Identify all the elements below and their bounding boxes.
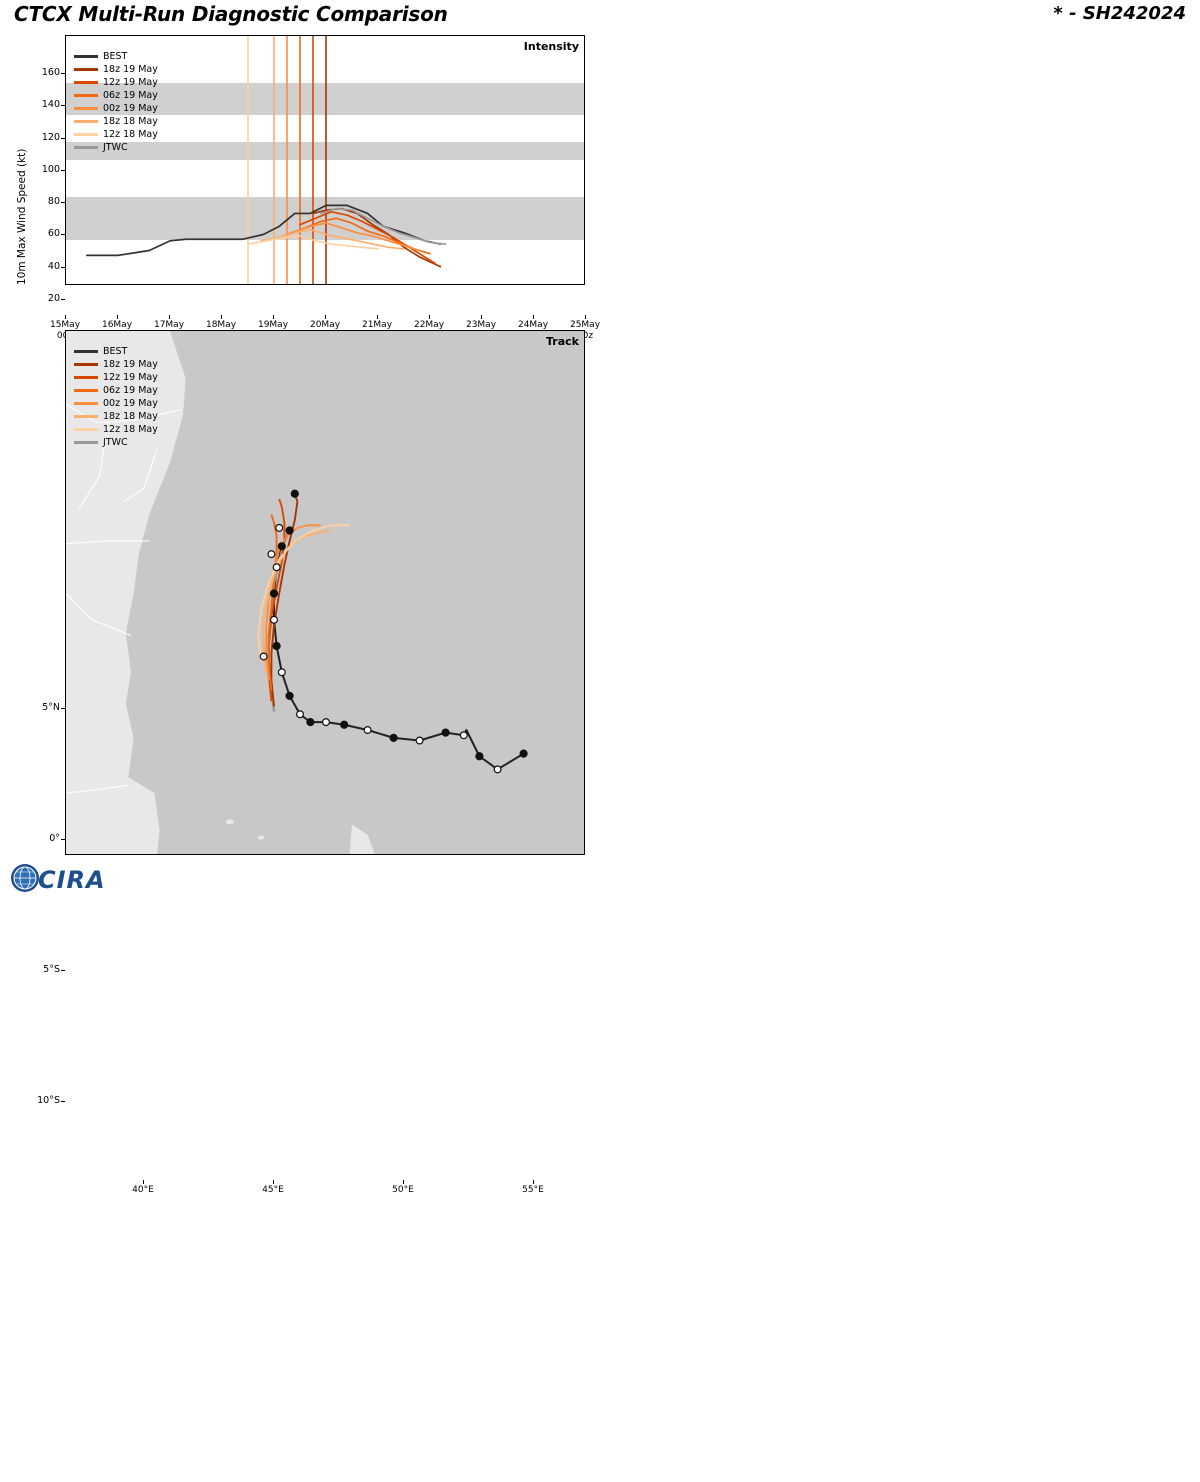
legend-swatch [74, 389, 98, 392]
legend-swatch [74, 146, 98, 149]
legend-label: 12z 18 May [103, 424, 158, 435]
legend-item: BEST [74, 345, 158, 358]
y-tick-label: 5°N [20, 702, 60, 713]
y-tick-mark [61, 970, 65, 971]
legend-item: 12z 19 May [74, 371, 158, 384]
panel-sst: Sea Surface Temp (°C) SST 18z 19 May12z … [600, 320, 1200, 595]
x-tick-mark [65, 315, 66, 319]
legend-label: 18z 18 May [103, 116, 158, 127]
legend-label: 00z 19 May [103, 103, 158, 114]
panel-intensity: 10m Max Wind Speed (kt) Intensity BEST18… [0, 30, 600, 320]
y-tick-label: 100 [25, 164, 60, 175]
y-tick-label: 10°S [20, 1095, 60, 1106]
legend-label: 18z 19 May [103, 64, 158, 75]
legend-label: 00z 19 May [103, 398, 158, 409]
legend-item: 12z 18 May [74, 423, 158, 436]
x-tick-mark [533, 315, 534, 319]
x-tick-mark [429, 315, 430, 319]
legend-label: 12z 19 May [103, 77, 158, 88]
y-tick-label: 160 [25, 67, 60, 78]
legend-swatch [74, 428, 98, 431]
legend-item: 18z 18 May [74, 410, 158, 423]
legend-swatch [74, 363, 98, 366]
legend-item: 06z 19 May [74, 384, 158, 397]
legend-item: JTWC [74, 436, 158, 449]
legend-item: JTWC [74, 141, 158, 154]
x-tick-mark [481, 315, 482, 319]
legend-label: BEST [103, 51, 127, 62]
y-tick-label: 80 [25, 196, 60, 207]
x-tick-label: 40°E [121, 1185, 165, 1196]
y-tick-label: 0° [20, 833, 60, 844]
legend-label: JTWC [103, 142, 128, 153]
page-title: CTCX Multi-Run Diagnostic Comparison [14, 2, 448, 26]
panel-shear: 200-850 hPa Shear (kt) Deep-Layer Shear … [600, 30, 1200, 315]
legend-swatch [74, 441, 98, 444]
legend-swatch [74, 120, 98, 123]
track-panel-label: Track [546, 335, 579, 348]
y-tick-mark [61, 73, 65, 74]
legend-label: 06z 19 May [103, 90, 158, 101]
y-tick-mark [61, 105, 65, 106]
x-tick-label: 45°E [251, 1185, 295, 1196]
legend-item: 00z 19 May [74, 102, 158, 115]
x-tick-mark [221, 315, 222, 319]
y-tick-mark [61, 299, 65, 300]
panel-rh: 700-500 hPa Humidity (%) Mid-Level RH 18… [600, 600, 1200, 890]
title-bar: CTCX Multi-Run Diagnostic Comparison * -… [0, 0, 1200, 30]
intensity-plot-area: Intensity BEST18z 19 May12z 19 May06z 19… [65, 35, 585, 285]
x-tick-mark [273, 1180, 274, 1184]
panel-track: Track BEST18z 19 May12z 19 May06z 19 May… [0, 325, 600, 865]
x-tick-mark [325, 315, 326, 319]
legend-swatch [74, 107, 98, 110]
x-tick-label: 55°E [511, 1185, 555, 1196]
y-tick-label: 20 [25, 293, 60, 304]
legend-item: 18z 18 May [74, 115, 158, 128]
y-tick-mark [61, 202, 65, 203]
y-tick-mark [61, 839, 65, 840]
y-tick-mark [61, 267, 65, 268]
legend-item: 18z 19 May [74, 63, 158, 76]
legend-swatch [74, 81, 98, 84]
storm-id-label: * - SH242024 [1053, 3, 1186, 24]
legend-swatch [74, 376, 98, 379]
track-plot-area: Track BEST18z 19 May12z 19 May06z 19 May… [65, 330, 585, 855]
legend-label: 12z 18 May [103, 129, 158, 140]
y-tick-label: 140 [25, 99, 60, 110]
legend-label: BEST [103, 346, 127, 357]
x-tick-mark [273, 315, 274, 319]
x-tick-mark [169, 315, 170, 319]
x-tick-mark [377, 315, 378, 319]
cira-logo-text: CIRA [38, 866, 106, 894]
x-tick-mark [117, 315, 118, 319]
y-tick-label: 120 [25, 132, 60, 143]
legend-label: 06z 19 May [103, 385, 158, 396]
y-tick-mark [61, 708, 65, 709]
track-legend: BEST18z 19 May12z 19 May06z 19 May00z 19… [74, 345, 158, 449]
legend-item: 12z 18 May [74, 128, 158, 141]
legend-swatch [74, 94, 98, 97]
legend-label: 18z 19 May [103, 359, 158, 370]
y-tick-label: 60 [25, 228, 60, 239]
legend-swatch [74, 402, 98, 405]
legend-label: 12z 19 May [103, 372, 158, 383]
x-tick-mark [585, 315, 586, 319]
x-tick-mark [533, 1180, 534, 1184]
y-tick-mark [61, 138, 65, 139]
y-tick-label: 5°S [20, 964, 60, 975]
y-tick-mark [61, 170, 65, 171]
legend-swatch [74, 133, 98, 136]
legend-swatch [74, 350, 98, 353]
x-tick-label: 50°E [381, 1185, 425, 1196]
legend-item: 18z 19 May [74, 358, 158, 371]
legend-swatch [74, 68, 98, 71]
x-tick-mark [403, 1180, 404, 1184]
legend-label: JTWC [103, 437, 128, 448]
y-tick-label: 40 [25, 261, 60, 272]
legend-item: 00z 19 May [74, 397, 158, 410]
legend-swatch [74, 55, 98, 58]
legend-label: 18z 18 May [103, 411, 158, 422]
intensity-legend: BEST18z 19 May12z 19 May06z 19 May00z 19… [74, 50, 158, 154]
y-tick-mark [61, 234, 65, 235]
legend-swatch [74, 415, 98, 418]
x-tick-mark [143, 1180, 144, 1184]
legend-item: 12z 19 May [74, 76, 158, 89]
legend-item: BEST [74, 50, 158, 63]
y-tick-mark [61, 1101, 65, 1102]
legend-item: 06z 19 May [74, 89, 158, 102]
